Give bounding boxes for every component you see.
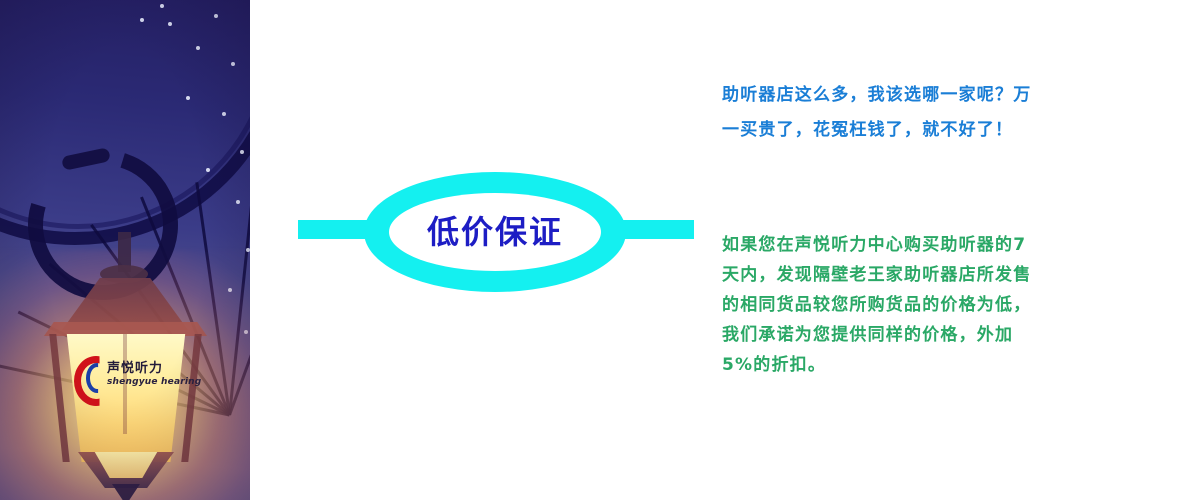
promise-paragraph: 如果您在声悦听力中心购买助听器的7 天内，发现隔壁老王家助听器店所发售 的相同货…: [722, 230, 1162, 380]
badge-inner-field: 低价保证: [389, 193, 601, 271]
promise-line-1: 如果您在声悦听力中心购买助听器的7: [722, 230, 1162, 260]
badge-label: 低价保证: [427, 216, 563, 248]
brand-logo-wordmark: 声悦听力 shengyue hearing: [107, 362, 201, 387]
question-line-1: 助听器店这么多，我该选哪一家呢？万: [722, 78, 1162, 113]
promise-line-4: 我们承诺为您提供同样的价格，外加: [722, 320, 1162, 350]
badge-ring: 低价保证: [364, 172, 626, 292]
lantern-night-photo: 声悦听力 shengyue hearing: [0, 0, 250, 500]
question-paragraph: 助听器店这么多，我该选哪一家呢？万 一买贵了，花冤枉钱了，就不好了！: [722, 78, 1162, 148]
low-price-guarantee-badge: 低价保证: [296, 168, 696, 296]
brand-name-chinese: 声悦听力: [107, 362, 201, 375]
promo-banner: 声悦听力 shengyue hearing 低价保证 助听器店这么多，我该选哪一…: [0, 0, 1200, 500]
promise-line-3: 的相同货品较您所购货品的价格为低，: [722, 290, 1162, 320]
brand-name-english: shengyue hearing: [107, 378, 201, 387]
promo-copy: 助听器店这么多，我该选哪一家呢？万 一买贵了，花冤枉钱了，就不好了！ 如果您在声…: [722, 78, 1162, 380]
promise-line-2: 天内，发现隔壁老王家助听器店所发售: [722, 260, 1162, 290]
question-line-2: 一买贵了，花冤枉钱了，就不好了！: [722, 113, 1162, 148]
promise-line-5: 5%的折扣。: [722, 350, 1162, 380]
brand-logo: 声悦听力 shengyue hearing: [74, 352, 190, 396]
letter-c-logo-icon: [74, 356, 104, 392]
